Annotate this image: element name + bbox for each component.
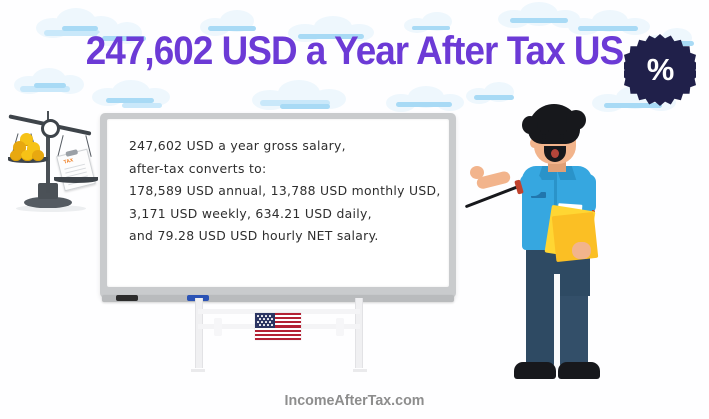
shoe-left — [514, 362, 556, 379]
shoe-right — [558, 362, 600, 379]
hand-right — [572, 242, 591, 259]
eye-left — [542, 134, 546, 139]
leg-right — [560, 286, 588, 368]
flag-canton — [255, 313, 275, 328]
stand-foot — [191, 369, 205, 372]
whiteboard-surface: 247,602 USD a year gross salary, after-t… — [107, 119, 449, 287]
infographic-canvas: 247,602 USD a Year After Tax US % — [0, 0, 709, 419]
eye-right — [560, 134, 564, 139]
page-title: 247,602 USD a Year After Tax US — [28, 24, 680, 78]
percent-badge: % — [624, 34, 696, 106]
scale-pan-right — [54, 177, 98, 183]
us-flag-icon — [255, 313, 301, 340]
hair-tuft — [566, 110, 586, 130]
cloud-shape — [386, 86, 466, 112]
leg-gap — [554, 274, 560, 370]
clipboard-clip — [65, 149, 78, 157]
black-marker-icon — [116, 295, 138, 301]
stand-foot — [353, 369, 367, 372]
whiteboard: 247,602 USD a year gross salary, after-t… — [100, 113, 456, 298]
whiteboard-line: and 79.28 USD USD hourly NET salary. — [129, 225, 439, 248]
balance-scale-illustration: TAX — [2, 105, 106, 215]
whiteboard-line: 3,171 USD weekly, 634.21 USD daily, — [129, 203, 439, 226]
whiteboard-line: after-tax converts to: — [129, 158, 439, 181]
presenter-character — [470, 104, 650, 386]
sleeve-left — [520, 174, 542, 196]
whiteboard-line: 247,602 USD a year gross salary, — [129, 135, 439, 158]
whiteboard-line: 178,589 USD annual, 13,788 USD monthly U… — [129, 180, 439, 203]
cloud-shape — [466, 82, 528, 104]
leg-left — [526, 286, 554, 368]
hand-left — [470, 166, 484, 179]
gold-coins — [10, 133, 46, 159]
stand-knob — [336, 318, 344, 336]
eyebrow-right — [558, 130, 567, 132]
stand-knob — [214, 318, 222, 336]
eyebrow-left — [540, 130, 549, 132]
whiteboard-text: 247,602 USD a year gross salary, after-t… — [129, 135, 439, 248]
cloud-shape — [92, 78, 172, 108]
cloud-shape — [252, 78, 350, 110]
hair-tuft — [522, 116, 538, 134]
mouth — [551, 149, 559, 158]
percent-icon: % — [624, 34, 696, 106]
tax-label: TAX — [63, 157, 74, 165]
site-watermark: IncomeAfterTax.com — [18, 392, 692, 409]
